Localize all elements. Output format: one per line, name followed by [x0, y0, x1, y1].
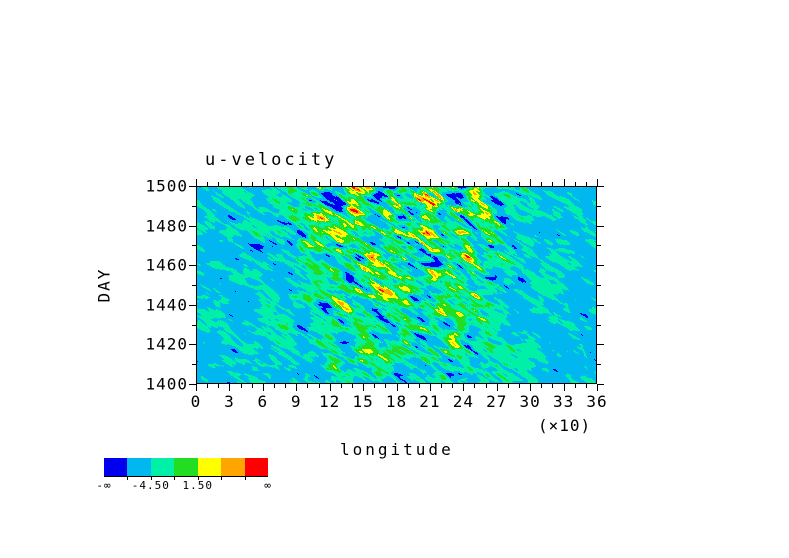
- x-tick-label: 36: [586, 392, 607, 411]
- y-axis-label: DAY: [95, 268, 114, 303]
- y-tick-label: 1400: [145, 375, 188, 394]
- colorbar-baseline: [104, 476, 268, 477]
- x-tick-label: 6: [258, 392, 269, 411]
- colorbar-band: [245, 458, 268, 476]
- x-tick-label: 24: [453, 392, 474, 411]
- colorbar-band: [127, 458, 150, 476]
- x-tick-label: 15: [352, 392, 373, 411]
- y-tick-label: 1460: [145, 256, 188, 275]
- x-tick-label: 0: [191, 392, 202, 411]
- heatmap-canvas: [196, 186, 597, 384]
- x-tick-label: 33: [553, 392, 574, 411]
- colorbar-label: 1.50: [182, 479, 213, 492]
- plot-area[interactable]: [196, 186, 597, 384]
- colorbar-tick: [174, 476, 175, 480]
- x-tick-label: 27: [486, 392, 507, 411]
- x-tick-label: 18: [386, 392, 407, 411]
- x-tick-label: 3: [224, 392, 235, 411]
- x-axis-label: longitude: [340, 440, 454, 459]
- colorbar-label: -4.50: [132, 479, 170, 492]
- colorbar-label: -∞: [96, 479, 111, 492]
- colorbar-band: [174, 458, 197, 476]
- x-tick-label: 30: [520, 392, 541, 411]
- y-tick-label: 1440: [145, 295, 188, 314]
- colorbar-tick: [245, 476, 246, 480]
- y-tick-label: 1480: [145, 216, 188, 235]
- colorbar-band: [151, 458, 174, 476]
- x-tick-label: 12: [319, 392, 340, 411]
- y-tick-label: 1420: [145, 335, 188, 354]
- colorbar-tick: [127, 476, 128, 480]
- colorbar-band: [198, 458, 221, 476]
- y-tick-label: 1500: [145, 177, 188, 196]
- colorbar-band: [221, 458, 244, 476]
- chart-title: u-velocity: [205, 150, 337, 170]
- colorbar-tick: [221, 476, 222, 480]
- x-tick-label: 9: [291, 392, 302, 411]
- x-axis-multiplier: (×10): [538, 416, 591, 435]
- colorbar-band: [104, 458, 127, 476]
- colorbar[interactable]: [104, 458, 268, 476]
- x-tick-label: 21: [419, 392, 440, 411]
- colorbar-label: ∞: [264, 479, 272, 492]
